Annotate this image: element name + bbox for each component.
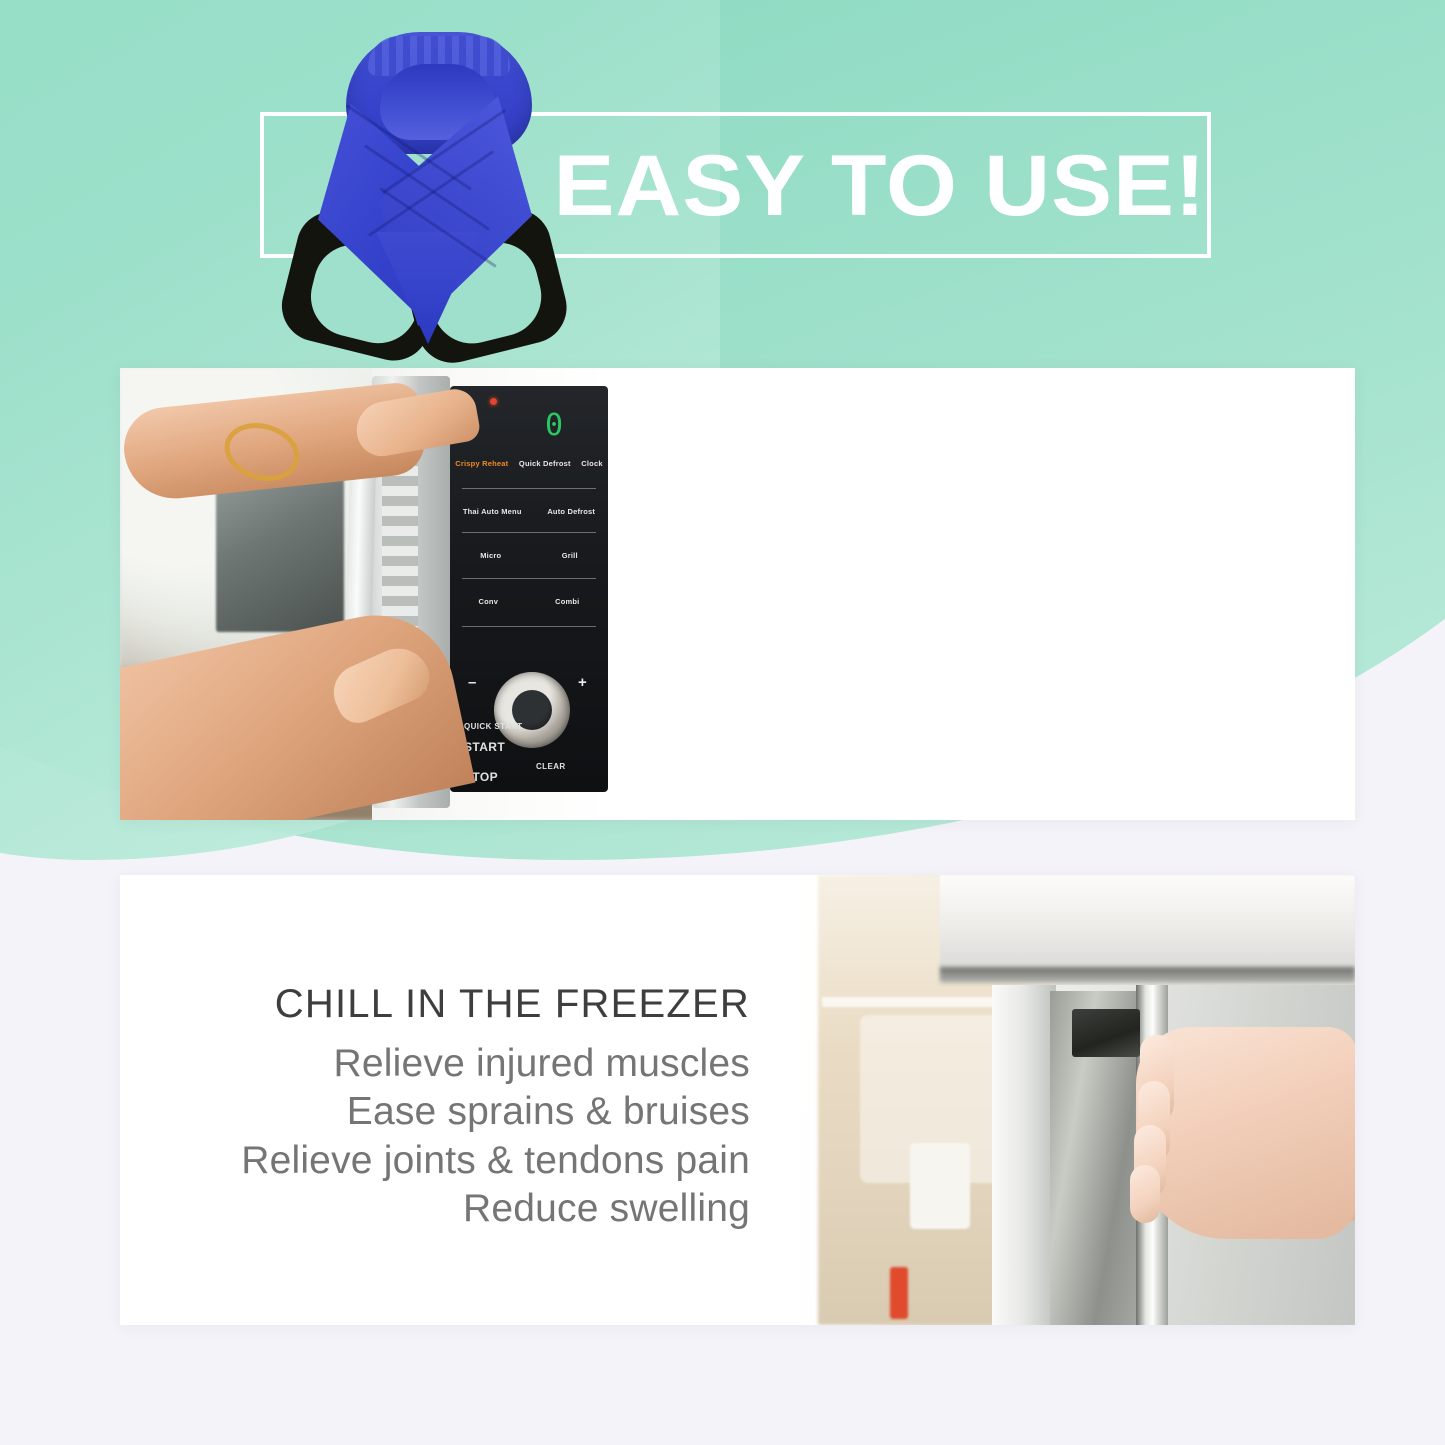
indicator-led: [490, 398, 497, 405]
photo-microwave: 0 Crispy Reheat Quick Defrost Clock Thai…: [120, 368, 702, 820]
benefit-list-chill: Relieve injured muscles Ease sprains & b…: [150, 1040, 750, 1233]
heading-chill: CHILL IN THE FREEZER: [150, 982, 750, 1026]
panel-seam: [462, 532, 596, 533]
freezer-door-edge: [992, 985, 1056, 1325]
benefit-item: Reduce swelling: [150, 1185, 750, 1233]
benefit-item: Relieve joints & tendons pain: [150, 1137, 750, 1185]
knob-plus-label[interactable]: +: [578, 674, 587, 691]
fridge-shelf: [822, 997, 1020, 1007]
section-card-chill: CHILL IN THE FREEZER Relieve injured mus…: [120, 875, 1355, 1325]
freezer-handle-bracket: [1072, 1009, 1140, 1057]
section-card-heat: 0 Crispy Reheat Quick Defrost Clock Thai…: [120, 368, 1355, 820]
button-clock[interactable]: Clock: [581, 460, 602, 469]
freezer-top-shadow: [940, 967, 1355, 983]
page-title: EASY TO USE!: [541, 132, 1219, 240]
panel-label-row-4: Conv Combi: [450, 598, 608, 607]
button-clear[interactable]: CLEAR: [536, 762, 566, 771]
infographic-root: EASY TO USE!: [0, 0, 1445, 1445]
panel-label-row-1: Crispy Reheat Quick Defrost Clock: [450, 460, 608, 469]
microwave-display: 0: [508, 408, 564, 448]
button-start[interactable]: START: [464, 740, 505, 754]
button-micro[interactable]: Micro: [480, 552, 501, 561]
fridge-bin: [910, 1143, 970, 1229]
panel-label-row-2: Thai Auto Menu Auto Defrost: [450, 508, 608, 517]
microwave-control-panel: 0 Crispy Reheat Quick Defrost Clock Thai…: [450, 386, 608, 792]
button-combi[interactable]: Combi: [555, 598, 579, 607]
panel-label-row-3: Micro Grill: [450, 552, 608, 561]
panel-seam: [462, 578, 596, 579]
photo-freezer: [800, 875, 1355, 1325]
button-auto-defrost[interactable]: Auto Defrost: [547, 508, 595, 517]
panel-seam: [462, 488, 596, 489]
benefit-item: Ease sprains & bruises: [150, 1088, 750, 1136]
button-quick-defrost[interactable]: Quick Defrost: [519, 460, 571, 469]
button-grill[interactable]: Grill: [562, 552, 578, 561]
button-quick-start[interactable]: QUICK START: [464, 722, 522, 731]
benefit-item: Relieve injured muscles: [150, 1040, 750, 1088]
product-photo-neck-wrap: [280, 12, 565, 360]
knob-minus-label[interactable]: –: [468, 674, 476, 691]
text-block-chill: CHILL IN THE FREEZER Relieve injured mus…: [150, 982, 750, 1233]
wrap-body: [312, 26, 534, 322]
panel-seam: [462, 626, 596, 627]
button-thai-auto-menu[interactable]: Thai Auto Menu: [463, 508, 522, 517]
button-conv[interactable]: Conv: [479, 598, 499, 607]
freezer-finger: [1130, 1165, 1160, 1223]
fridge-red-item: [890, 1267, 908, 1319]
freezer-top-unit: [940, 875, 1355, 979]
button-crispy-reheat[interactable]: Crispy Reheat: [455, 460, 508, 469]
